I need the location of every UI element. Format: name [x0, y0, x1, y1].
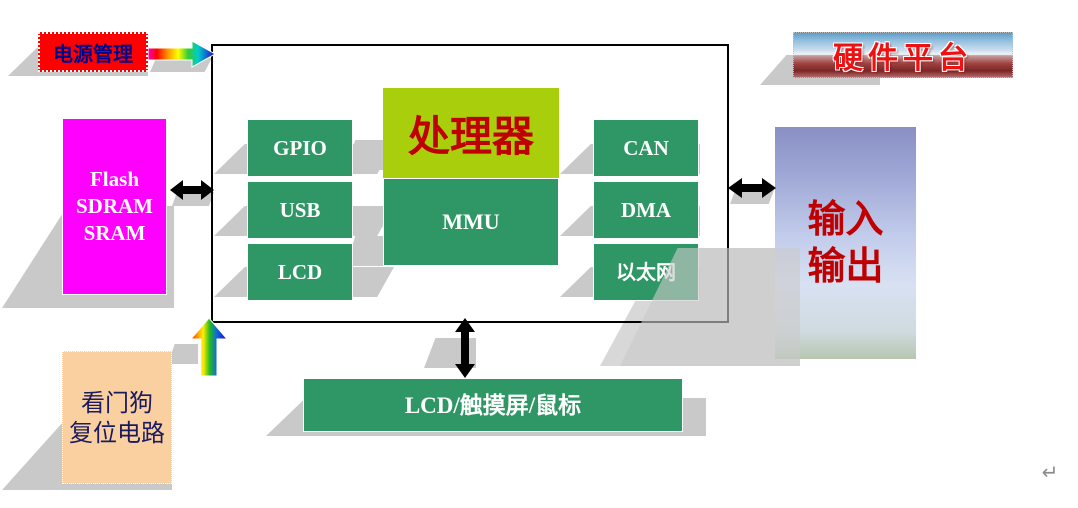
memory-box[interactable]: Flash SDRAM SRAM — [62, 118, 167, 295]
peripheral-usb[interactable]: USB — [247, 181, 353, 239]
power-management-label: 电源管理 — [53, 38, 133, 67]
mmu-box[interactable]: MMU — [383, 178, 559, 266]
watchdog-line-1: 看门狗 — [81, 388, 153, 418]
slide-canvas: 电源管理 硬件平台 Flash SDRAM SRA — [0, 0, 1078, 508]
return-arrow-icon: ↵ — [1038, 460, 1062, 484]
display-devices-label: LCD/触摸屏/鼠标 — [405, 394, 581, 417]
double-headed-vertical-arrow-icon — [452, 318, 478, 378]
peripheral-can-label: CAN — [623, 138, 669, 159]
io-line-2: 输出 — [807, 243, 883, 291]
title-banner: 硬件平台 — [793, 32, 1013, 78]
rainbow-up-arrow-icon — [190, 318, 228, 376]
mmu-label: MMU — [442, 211, 499, 233]
peripheral-lcd[interactable]: LCD — [247, 243, 353, 301]
display-devices-box[interactable]: LCD/触摸屏/鼠标 — [303, 378, 683, 432]
io-line-1: 输入 — [807, 196, 883, 244]
double-headed-horizontal-arrow-icon-io — [728, 175, 776, 201]
memory-line-3: SRAM — [84, 220, 146, 247]
peripheral-usb-label: USB — [280, 200, 321, 221]
peripheral-gpio-label: GPIO — [273, 138, 327, 159]
peripheral-dma-label: DMA — [621, 200, 671, 221]
return-arrow-glyph: ↵ — [1042, 460, 1059, 484]
rainbow-right-arrow-icon — [148, 40, 216, 68]
peripheral-dma[interactable]: DMA — [593, 181, 699, 239]
double-headed-horizontal-arrow-icon-memory — [170, 177, 214, 203]
peripheral-lcd-label: LCD — [278, 262, 322, 283]
processor-label: 处理器 — [408, 103, 534, 164]
watchdog-line-2: 复位电路 — [69, 418, 165, 448]
peripheral-gpio[interactable]: GPIO — [247, 119, 353, 177]
title-banner-text: 硬件平台 — [833, 33, 973, 77]
memory-line-1: Flash — [90, 166, 139, 193]
memory-line-2: SDRAM — [76, 193, 153, 220]
peripheral-can[interactable]: CAN — [593, 119, 699, 177]
power-management-box[interactable]: 电源管理 — [38, 32, 148, 72]
watchdog-box[interactable]: 看门狗 复位电路 — [62, 351, 172, 484]
processor-box[interactable]: 处理器 — [383, 88, 559, 178]
